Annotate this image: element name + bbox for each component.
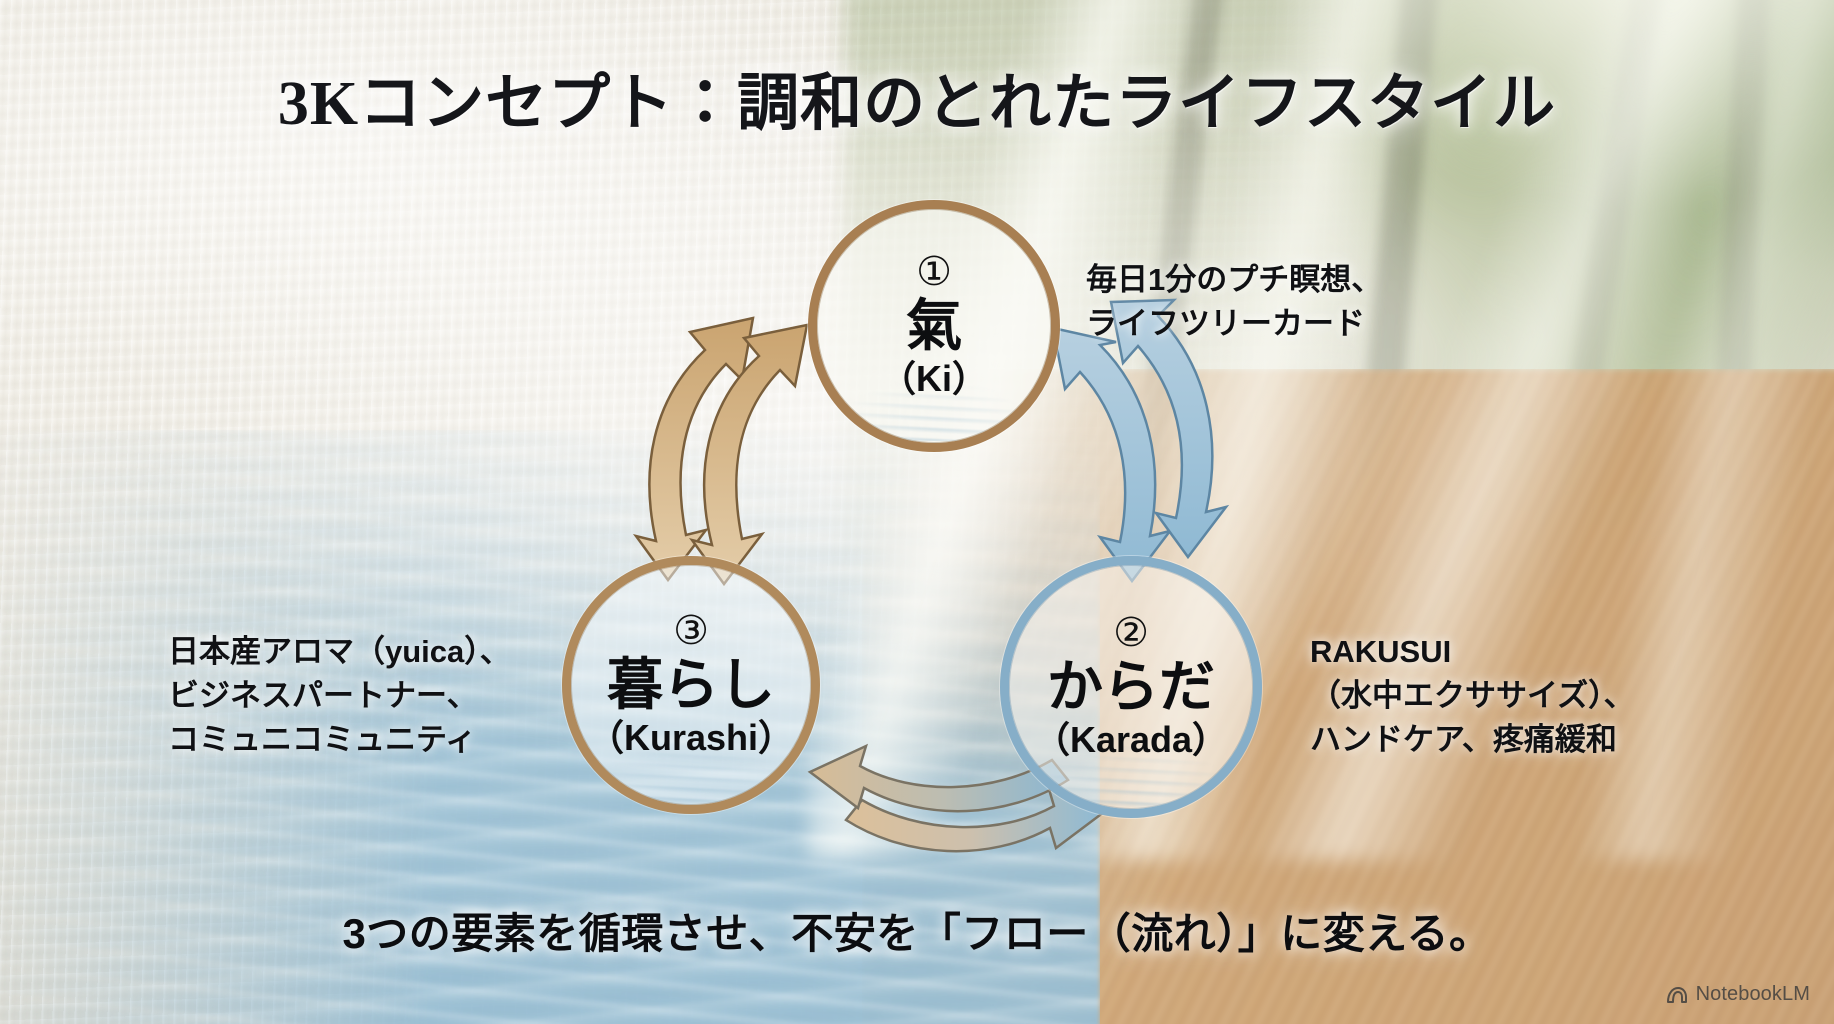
notebooklm-logo-icon — [1666, 986, 1688, 1004]
node-romaji-karada: （Karada） — [1034, 718, 1228, 761]
notebooklm-watermark-label: NotebookLM — [1696, 983, 1810, 1006]
node-romaji-ki: （Ki） — [880, 357, 988, 400]
annotation-karada: RAKUSUI （水中エクササイズ）、 ハンドケア、疼痛緩和 — [1310, 630, 1635, 762]
node-title-kurashi: 暮らし — [607, 657, 775, 716]
annotation-ki: 毎日1分のプチ瞑想、 ライフツリーカード — [1086, 258, 1382, 346]
node-circle-ki[interactable]: ① 氣 （Ki） — [808, 200, 1060, 452]
node-circle-kurashi[interactable]: ③ 暮らし （Kurashi） — [562, 556, 820, 814]
slide-caption: 3つの要素を循環させ、不安を「フロー（流れ）」に変える。 — [0, 900, 1834, 961]
node-number-karada: ② — [1113, 613, 1149, 653]
node-number-ki: ① — [916, 252, 952, 292]
node-circle-karada[interactable]: ② からだ （Karada） — [1000, 556, 1262, 818]
node-number-kurashi: ③ — [673, 611, 709, 651]
notebooklm-watermark: NotebookLM — [1666, 983, 1810, 1006]
annotation-kurashi: 日本産アロマ（yuica）、 ビジネスパートナー、 コミュニコミュニティ — [168, 630, 511, 762]
node-title-ki: 氣 — [906, 298, 962, 357]
slide-canvas: 3Kコンセプト：調和のとれたライフスタイル — [0, 0, 1834, 1024]
node-title-karada: からだ — [1047, 659, 1215, 718]
three-k-cycle-diagram: ① 氣 （Ki） ③ 暮らし （Kurashi） ② からだ （Karada） — [0, 0, 1834, 1024]
node-romaji-kurashi: （Kurashi） — [588, 716, 794, 759]
